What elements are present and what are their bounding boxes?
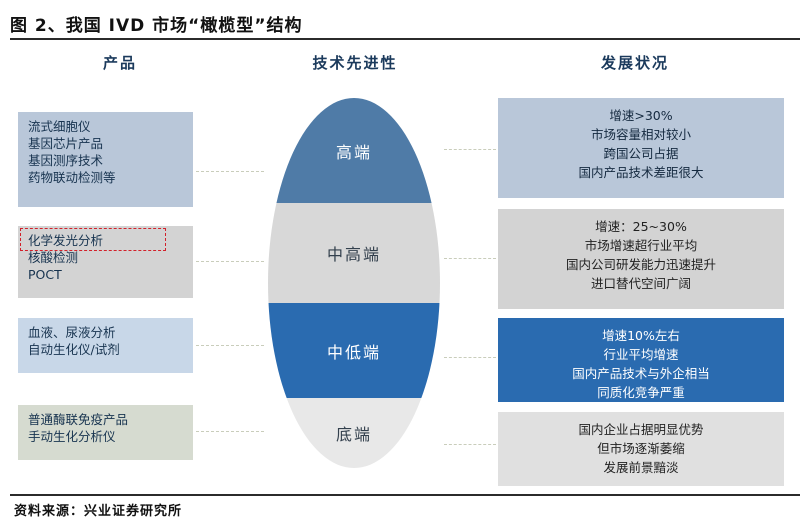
connector-left-low bbox=[196, 431, 264, 432]
connector-left-mid-low bbox=[196, 345, 264, 346]
page-title: 图 2、我国 IVD 市场“橄榄型”结构 bbox=[10, 11, 303, 36]
status-line: 国内产品技术与外企相当 bbox=[504, 364, 778, 383]
status-line: 发展前景黯淡 bbox=[504, 458, 778, 477]
status-line: 增速>30% bbox=[504, 106, 778, 125]
status-box-high: 增速>30% 市场容量相对较小 跨国公司占据 国内产品技术差距很大 bbox=[498, 98, 784, 198]
product-line: 核酸检测 bbox=[28, 249, 185, 266]
source-note: 资料来源：兴业证券研究所 bbox=[14, 500, 182, 519]
product-box-high: 流式细胞仪 基因芯片产品 基因测序技术 药物联动检测等 bbox=[18, 112, 193, 207]
product-box-low: 普通酶联免疫产品 手动生化分析仪 bbox=[18, 405, 193, 460]
status-line: 增速：25~30% bbox=[504, 217, 778, 236]
olive-shape: 高端 中高端 中低端 底端 bbox=[268, 98, 440, 468]
product-line: 基因测序技术 bbox=[28, 152, 185, 169]
status-line: 国内公司研发能力迅速提升 bbox=[504, 255, 778, 274]
tier-segment-mid-high: 中高端 bbox=[268, 203, 440, 303]
column-header-technology: 技术先进性 bbox=[265, 52, 445, 73]
product-line: 药物联动检测等 bbox=[28, 169, 185, 186]
status-box-mid-high: 增速：25~30% 市场增速超行业平均 国内公司研发能力迅速提升 进口替代空间广… bbox=[498, 209, 784, 309]
connector-left-high bbox=[196, 171, 264, 172]
status-line: 行业平均增速 bbox=[504, 345, 778, 364]
tier-segment-mid-low: 中低端 bbox=[268, 303, 440, 398]
status-box-mid-low: 增速10%左右 行业平均增速 国内产品技术与外企相当 同质化竞争严重 bbox=[498, 318, 784, 402]
status-line: 但市场逐渐萎缩 bbox=[504, 439, 778, 458]
column-header-products: 产品 bbox=[20, 52, 220, 73]
product-line: 普通酶联免疫产品 bbox=[28, 411, 185, 428]
footer-divider bbox=[10, 494, 800, 496]
product-line: POCT bbox=[28, 266, 185, 283]
product-box-mid-low: 血液、尿液分析 自动生化仪/试剂 bbox=[18, 318, 193, 373]
product-line: 自动生化仪/试剂 bbox=[28, 341, 185, 358]
status-line: 市场增速超行业平均 bbox=[504, 236, 778, 255]
status-line: 增速10%左右 bbox=[504, 326, 778, 345]
status-line: 国内企业占据明显优势 bbox=[504, 420, 778, 439]
connector-right-mid-low bbox=[444, 357, 496, 358]
status-line: 跨国公司占据 bbox=[504, 144, 778, 163]
status-line: 国内产品技术差距很大 bbox=[504, 163, 778, 182]
tier-segment-low: 底端 bbox=[268, 398, 440, 468]
connector-right-mid-high bbox=[444, 258, 496, 259]
title-divider bbox=[10, 38, 800, 40]
tier-segment-high: 高端 bbox=[268, 98, 440, 203]
connector-right-high bbox=[444, 149, 496, 150]
figure-page: 图 2、我国 IVD 市场“橄榄型”结构 产品 技术先进性 发展状况 流式细胞仪… bbox=[0, 0, 810, 530]
status-line: 市场容量相对较小 bbox=[504, 125, 778, 144]
status-line: 进口替代空间广阔 bbox=[504, 274, 778, 293]
column-header-development: 发展状况 bbox=[490, 52, 780, 73]
connector-left-mid-high bbox=[196, 261, 264, 262]
product-line: 手动生化分析仪 bbox=[28, 428, 185, 445]
status-box-low: 国内企业占据明显优势 但市场逐渐萎缩 发展前景黯淡 bbox=[498, 412, 784, 486]
connector-right-low bbox=[444, 444, 496, 445]
product-line: 基因芯片产品 bbox=[28, 135, 185, 152]
status-line: 同质化竞争严重 bbox=[504, 383, 778, 402]
highlight-dashed-box bbox=[20, 228, 166, 251]
product-line: 血液、尿液分析 bbox=[28, 324, 185, 341]
product-line: 流式细胞仪 bbox=[28, 118, 185, 135]
figure-title-bar: 图 2、我国 IVD 市场“橄榄型”结构 bbox=[10, 8, 800, 38]
